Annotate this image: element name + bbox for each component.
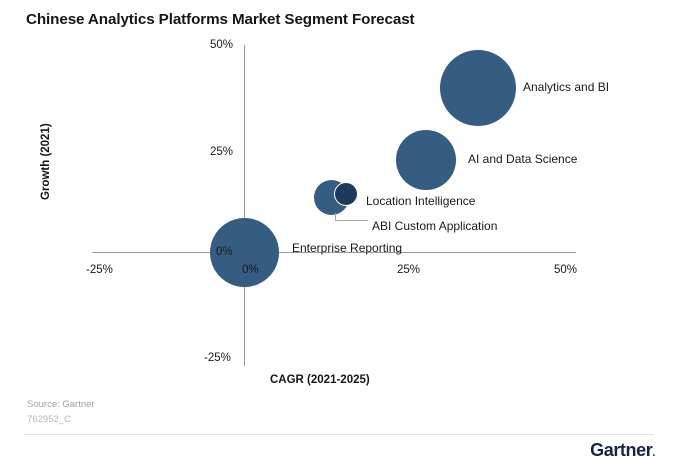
series-label-location-intelligence: Location Intelligence (366, 194, 475, 208)
source-note: Source: Gartner (27, 399, 95, 410)
y-axis-line (244, 45, 245, 366)
x-axis-tick-label-0: 0% (242, 264, 259, 276)
figure-id: 762952_C (27, 414, 71, 425)
x-axis-tick-label-25: 25% (397, 264, 420, 276)
series-label-ai-and-data-science: AI and Data Science (468, 152, 577, 166)
gartner-logo-text: Gartner (590, 440, 652, 460)
leader-line-horizontal-abi (335, 220, 368, 221)
bubble-ai-and-data-science[interactable] (396, 130, 456, 190)
series-label-abi-custom-application: ABI Custom Application (372, 219, 497, 233)
y-axis-title: Growth (2021) (40, 123, 52, 200)
chart-container: Chinese Analytics Platforms Market Segme… (0, 0, 677, 470)
gartner-logo: Gartner. (590, 440, 655, 461)
plot-area: Analytics and BI AI and Data Science Loc… (0, 0, 677, 470)
gartner-logo-mark: . (652, 447, 655, 459)
y-axis-tick-label-50: 50% (210, 39, 233, 51)
bubble-analytics-and-bi[interactable] (440, 50, 516, 126)
y-axis-tick-top (244, 45, 245, 52)
series-label-enterprise-reporting: Enterprise Reporting (292, 241, 402, 255)
bubble-abi-custom-application[interactable] (334, 182, 358, 206)
y-axis-tick-label-25: 25% (210, 146, 233, 158)
y-axis-tick-label-0: 0% (216, 246, 233, 258)
x-axis-tick-label-minus-25: -25% (86, 264, 113, 276)
x-axis-title: CAGR (2021-2025) (270, 374, 370, 386)
y-axis-tick-bottom (244, 359, 245, 366)
footer-divider (24, 434, 654, 435)
y-axis-tick-label-minus-25: -25% (204, 352, 231, 364)
x-axis-tick-label-50: 50% (554, 264, 577, 276)
series-label-analytics-and-bi: Analytics and BI (523, 80, 609, 94)
